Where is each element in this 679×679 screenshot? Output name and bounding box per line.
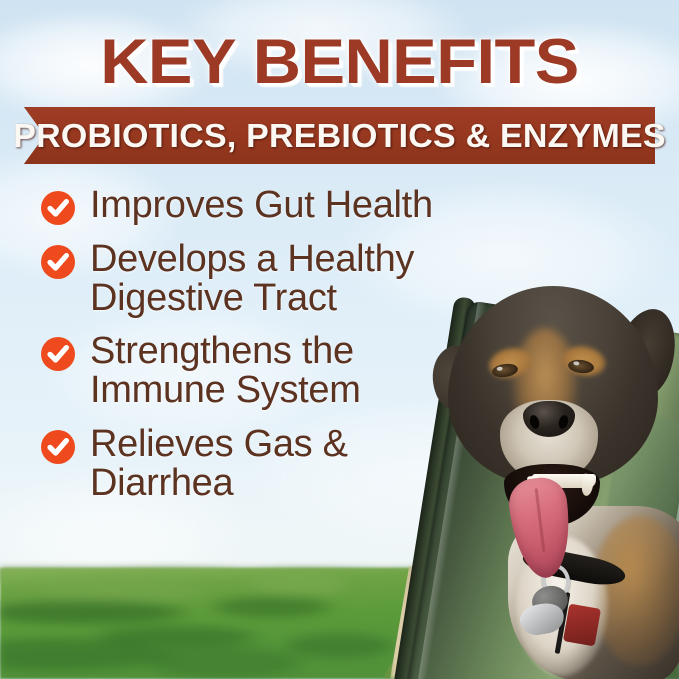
benefit-label: Develops a Healthy Digestive Tract <box>90 240 414 318</box>
check-circle-icon <box>40 336 76 372</box>
benefit-line-1: Develops a Healthy <box>90 238 414 280</box>
benefit-label: Improves Gut Health <box>90 186 433 225</box>
benefits-list: Improves Gut Health Develops a Healthy D… <box>40 186 540 517</box>
benefit-line-2: Immune System <box>90 371 361 410</box>
check-circle-icon <box>40 244 76 280</box>
benefit-line-2: Diarrhea <box>90 464 348 503</box>
benefit-item: Improves Gut Health <box>40 186 540 226</box>
key-benefits-poster: KEY BENEFITS PROBIOTICS, PREBIOTICS & EN… <box>0 0 679 679</box>
benefit-item: Relieves Gas & Diarrhea <box>40 425 540 503</box>
benefit-item: Develops a Healthy Digestive Tract <box>40 240 540 318</box>
benefit-line-1: Relieves Gas & <box>90 423 348 465</box>
benefit-line-2: Digestive Tract <box>90 279 414 318</box>
ribbon-banner-label: PROBIOTICS, PREBIOTICS & ENZYMES <box>15 107 665 164</box>
check-circle-icon <box>40 429 76 465</box>
benefit-label: Strengthens the Immune System <box>90 332 361 410</box>
benefit-line-1: Improves Gut Health <box>90 184 433 226</box>
dog-tag-red <box>563 604 601 647</box>
benefit-label: Relieves Gas & Diarrhea <box>90 425 348 503</box>
benefit-item: Strengthens the Immune System <box>40 332 540 410</box>
page-title: KEY BENEFITS <box>0 26 679 98</box>
benefit-line-1: Strengthens the <box>90 330 354 372</box>
check-circle-icon <box>40 190 76 226</box>
